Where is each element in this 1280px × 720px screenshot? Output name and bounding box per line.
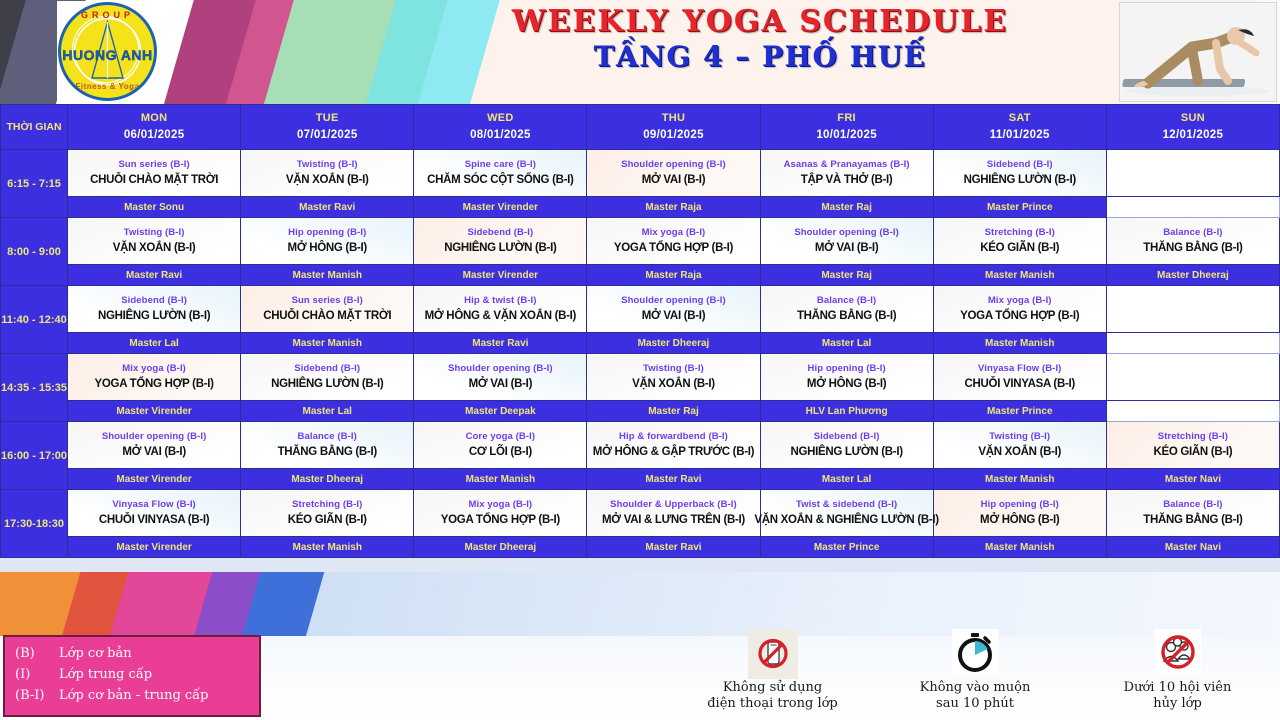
class-name-en: Shoulder opening (B-I) bbox=[621, 159, 726, 171]
class-cell-empty bbox=[1106, 354, 1279, 401]
coach-cell: HLV Lan Phương bbox=[760, 401, 933, 422]
coach-row: Master VirenderMaster LalMaster DeepakMa… bbox=[1, 401, 1280, 422]
class-cell-content: Twist & sidebend (B-I)VẶN XOẮN & NGHIÊNG… bbox=[761, 490, 933, 536]
header-row: THỜI GIAN MON 06/01/2025 TUE 07/01/2025 … bbox=[1, 105, 1280, 150]
coach-cell: Master Virender bbox=[414, 265, 587, 286]
coach-cell: Master Ravi bbox=[587, 469, 760, 490]
header-day-date: 11/01/2025 bbox=[934, 127, 1106, 144]
class-name-en: Twisting (B-I) bbox=[297, 159, 358, 171]
class-name-en: Shoulder opening (B-I) bbox=[621, 295, 726, 307]
header-day-sun: SUN 12/01/2025 bbox=[1106, 105, 1279, 150]
class-cell-content bbox=[1107, 150, 1279, 196]
class-name-vi: MỞ VAI (B-I) bbox=[642, 173, 706, 187]
class-cell[interactable]: Balance (B-I)THĂNG BẰNG (B-I) bbox=[1106, 218, 1279, 265]
yoga-pose-photo bbox=[1119, 2, 1277, 102]
legend-key: (B-I) bbox=[15, 685, 59, 706]
class-row: 14:35 - 15:35Mix yoga (B-I)YOGA TỔNG HỢP… bbox=[1, 354, 1280, 401]
class-name-en: Twisting (B-I) bbox=[124, 227, 185, 239]
coach-cell: Master Dheeraj bbox=[587, 333, 760, 354]
header-day-name: WED bbox=[487, 112, 514, 124]
rule-line1: Không vào muộn bbox=[883, 680, 1068, 696]
class-row: 16:00 - 17:00Shoulder opening (B-I)MỞ VA… bbox=[1, 422, 1280, 469]
class-cell[interactable]: Stretching (B-I)KÉO GIÃN (B-I) bbox=[1106, 422, 1279, 469]
class-cell-content: Hip opening (B-I)MỞ HÔNG (B-I) bbox=[761, 354, 933, 400]
coach-cell: Master Raja bbox=[587, 265, 760, 286]
class-name-en: Twisting (B-I) bbox=[643, 363, 704, 375]
class-name-vi: MỞ VAI (B-I) bbox=[815, 241, 879, 255]
footer-band-lightblue bbox=[306, 572, 1280, 636]
class-cell-content: Hip & forwardbend (B-I)MỞ HÔNG & GẬP TRƯ… bbox=[587, 422, 759, 468]
class-cell[interactable]: Stretching (B-I)KÉO GIÃN (B-I) bbox=[241, 490, 414, 537]
class-cell[interactable]: Shoulder opening (B-I)MỞ VAI (B-I) bbox=[760, 218, 933, 265]
class-name-en: Mix yoga (B-I) bbox=[469, 499, 533, 511]
coach-cell: Master Virender bbox=[68, 537, 241, 558]
header-day-date: 08/01/2025 bbox=[414, 127, 586, 144]
class-name-vi: MỞ HÔNG (B-I) bbox=[288, 241, 367, 255]
class-cell-content: Shoulder opening (B-I)MỞ VAI (B-I) bbox=[587, 150, 759, 196]
class-cell-empty bbox=[1106, 286, 1279, 333]
class-cell-content: Shoulder & Upperback (B-I)MỞ VAI & LƯNG … bbox=[587, 490, 759, 536]
class-cell[interactable]: Mix yoga (B-I)YOGA TỔNG HỢP (B-I) bbox=[68, 354, 241, 401]
legend-item: (B-I) Lớp cơ bản - trung cấp bbox=[15, 685, 259, 706]
class-name-vi: VẶN XOẮN (B-I) bbox=[978, 445, 1061, 459]
class-cell[interactable]: Shoulder opening (B-I)MỞ VAI (B-I) bbox=[587, 150, 760, 197]
coach-cell: Master Ravi bbox=[241, 197, 414, 218]
class-cell[interactable]: Twisting (B-I)VẶN XOẮN (B-I) bbox=[241, 150, 414, 197]
class-cell[interactable]: Vinyasa Flow (B-I)CHUỖI VINYASA (B-I) bbox=[68, 490, 241, 537]
class-cell-content: Vinyasa Flow (B-I)CHUỖI VINYASA (B-I) bbox=[934, 354, 1106, 400]
rule-no-late: Không vào muộn sau 10 phút bbox=[883, 630, 1068, 713]
header-day-tue: TUE 07/01/2025 bbox=[241, 105, 414, 150]
class-name-vi: VẶN XOẮN (B-I) bbox=[113, 241, 196, 255]
header-time-label: THỜI GIAN bbox=[1, 105, 68, 150]
coach-cell-empty bbox=[1106, 197, 1279, 218]
weekly-schedule-table: THỜI GIAN MON 06/01/2025 TUE 07/01/2025 … bbox=[0, 104, 1280, 558]
yoga-pose-illustration bbox=[1120, 3, 1274, 99]
class-name-vi: KÉO GIÃN (B-I) bbox=[1153, 445, 1232, 459]
coach-cell: Master Navi bbox=[1106, 537, 1279, 558]
class-cell-content: Sidebend (B-I)NGHIÊNG LƯỜN (B-I) bbox=[414, 218, 586, 264]
class-name-vi: VẶN XOẮN & NGHIÊNG LƯỜN (B-I) bbox=[754, 513, 938, 527]
class-name-en: Hip opening (B-I) bbox=[981, 499, 1059, 511]
coach-cell: Master Sonu bbox=[68, 197, 241, 218]
class-name-en: Balance (B-I) bbox=[817, 295, 876, 307]
class-name-en: Sidebend (B-I) bbox=[987, 159, 1053, 171]
class-cell-content: Hip opening (B-I)MỞ HÔNG (B-I) bbox=[241, 218, 413, 264]
coach-cell: Master Virender bbox=[414, 197, 587, 218]
class-name-en: Balance (B-I) bbox=[1163, 227, 1222, 239]
class-cell-content: Core yoga (B-I)CƠ LÕI (B-I) bbox=[414, 422, 586, 468]
class-name-en: Sun series (B-I) bbox=[292, 295, 363, 307]
class-name-vi: CƠ LÕI (B-I) bbox=[469, 445, 532, 459]
class-cell-content: Shoulder opening (B-I)MỞ VAI (B-I) bbox=[414, 354, 586, 400]
coach-cell: Master Prince bbox=[760, 537, 933, 558]
class-name-en: Sun series (B-I) bbox=[118, 159, 189, 171]
class-cell[interactable]: Twisting (B-I)VẶN XOẮN (B-I) bbox=[587, 354, 760, 401]
class-cell-content: Mix yoga (B-I)YOGA TỔNG HỢP (B-I) bbox=[414, 490, 586, 536]
class-name-en: Shoulder opening (B-I) bbox=[102, 431, 207, 443]
class-name-vi: NGHIÊNG LƯỜN (B-I) bbox=[98, 309, 210, 323]
class-cell[interactable]: Sidebend (B-I)NGHIÊNG LƯỜN (B-I) bbox=[933, 150, 1106, 197]
time-slot-cell: 8:00 - 9:00 bbox=[1, 218, 68, 286]
class-cell[interactable]: Stretching (B-I)KÉO GIÃN (B-I) bbox=[933, 218, 1106, 265]
class-name-en: Asanas & Pranayamas (B-I) bbox=[784, 159, 910, 171]
coach-cell: Master Raja bbox=[587, 197, 760, 218]
class-name-vi: VẶN XOẮN (B-I) bbox=[632, 377, 715, 391]
class-name-vi: THĂNG BẰNG (B-I) bbox=[1143, 513, 1242, 527]
table-head: THỜI GIAN MON 06/01/2025 TUE 07/01/2025 … bbox=[1, 105, 1280, 150]
class-cell[interactable]: Sun series (B-I)CHUỖI CHÀO MẶT TRỜI bbox=[68, 150, 241, 197]
coach-cell: Master Raj bbox=[760, 197, 933, 218]
coach-cell: Master Raj bbox=[587, 401, 760, 422]
rule-line1: Không sử dụng bbox=[680, 680, 865, 696]
header-day-name: SAT bbox=[1009, 112, 1031, 124]
header-day-wed: WED 08/01/2025 bbox=[414, 105, 587, 150]
coach-cell: Master Virender bbox=[68, 469, 241, 490]
class-name-en: Hip & twist (B-I) bbox=[464, 295, 536, 307]
class-name-vi: YOGA TỔNG HỢP (B-I) bbox=[441, 513, 560, 527]
coach-cell: Master Dheeraj bbox=[241, 469, 414, 490]
coach-cell: Master Lal bbox=[760, 469, 933, 490]
class-name-en: Sidebend (B-I) bbox=[294, 363, 360, 375]
class-name-en: Twist & sidebend (B-I) bbox=[796, 499, 897, 511]
header-day-mon: MON 06/01/2025 bbox=[68, 105, 241, 150]
coach-row: Master VirenderMaster ManishMaster Dheer… bbox=[1, 537, 1280, 558]
legend-text: Lớp trung cấp bbox=[59, 664, 152, 685]
class-cell[interactable]: Twisting (B-I)VẶN XOẮN (B-I) bbox=[68, 218, 241, 265]
level-legend: (B) Lớp cơ bản (I) Lớp trung cấp (B-I) L… bbox=[3, 635, 261, 717]
rule-icon-wrap bbox=[680, 630, 865, 678]
coach-cell: Master Ravi bbox=[587, 537, 760, 558]
class-cell-content: Shoulder opening (B-I)MỞ VAI (B-I) bbox=[68, 422, 240, 468]
class-name-vi: CHUỖI VINYASA (B-I) bbox=[965, 377, 1075, 391]
class-cell-content: Mix yoga (B-I)YOGA TỔNG HỢP (B-I) bbox=[587, 218, 759, 264]
footer-area: (B) Lớp cơ bản (I) Lớp trung cấp (B-I) L… bbox=[0, 572, 1280, 720]
class-name-en: Vinyasa Flow (B-I) bbox=[978, 363, 1061, 375]
class-name-en: Hip opening (B-I) bbox=[808, 363, 886, 375]
class-cell[interactable]: Twist & sidebend (B-I)VẶN XOẮN & NGHIÊNG… bbox=[760, 490, 933, 537]
brand-logo: GROUP HUONG ANH Fitness & Yoga bbox=[57, 1, 158, 102]
class-name-vi: VẶN XOẮN (B-I) bbox=[286, 173, 369, 187]
class-cell[interactable]: Balance (B-I)THĂNG BẰNG (B-I) bbox=[760, 286, 933, 333]
coach-cell: Master Manish bbox=[933, 265, 1106, 286]
rule-caption: Không vào muộn sau 10 phút bbox=[883, 680, 1068, 713]
header-day-date: 10/01/2025 bbox=[761, 127, 933, 144]
class-name-vi: MỞ VAI & LƯNG TRÊN (B-I) bbox=[602, 513, 745, 527]
class-name-vi: MỞ HÔNG (B-I) bbox=[807, 377, 886, 391]
class-name-en: Sidebend (B-I) bbox=[814, 431, 880, 443]
coach-cell: Master Manish bbox=[414, 469, 587, 490]
class-cell-content: Vinyasa Flow (B-I)CHUỖI VINYASA (B-I) bbox=[68, 490, 240, 536]
class-cell-content: Balance (B-I)THĂNG BẰNG (B-I) bbox=[241, 422, 413, 468]
class-cell-content: Sidebend (B-I)NGHIÊNG LƯỜN (B-I) bbox=[761, 422, 933, 468]
class-row: 6:15 - 7:15Sun series (B-I)CHUỖI CHÀO MẶ… bbox=[1, 150, 1280, 197]
no-phone-icon bbox=[748, 629, 798, 679]
coach-cell: Master Dheeraj bbox=[1106, 265, 1279, 286]
class-name-vi: NGHIÊNG LƯỜN (B-I) bbox=[790, 445, 902, 459]
coach-cell: Master Ravi bbox=[68, 265, 241, 286]
class-name-en: Twisting (B-I) bbox=[989, 431, 1050, 443]
title-subtitle: TẦNG 4 – PHỐ HUẾ bbox=[430, 40, 1090, 74]
coach-cell: Master Lal bbox=[68, 333, 241, 354]
coach-cell: Master Raj bbox=[760, 265, 933, 286]
legend-key: (B) bbox=[15, 643, 59, 664]
class-name-vi: NGHIÊNG LƯỜN (B-I) bbox=[271, 377, 383, 391]
coach-cell: Master Manish bbox=[241, 537, 414, 558]
coach-cell: Master Virender bbox=[68, 401, 241, 422]
coach-cell: Master Manish bbox=[933, 333, 1106, 354]
header-day-thu: THU 09/01/2025 bbox=[587, 105, 760, 150]
legend-item: (B) Lớp cơ bản bbox=[15, 643, 259, 664]
class-row: 8:00 - 9:00Twisting (B-I)VẶN XOẮN (B-I)H… bbox=[1, 218, 1280, 265]
class-cell-content: Twisting (B-I)VẶN XOẮN (B-I) bbox=[241, 150, 413, 196]
page-title: WEEKLY YOGA SCHEDULE TẦNG 4 – PHỐ HUẾ bbox=[430, 4, 1090, 74]
class-name-vi: CHUỖI CHÀO MẶT TRỜI bbox=[90, 173, 218, 187]
class-name-vi: TẬP VÀ THỞ (B-I) bbox=[801, 173, 893, 187]
class-cell-content: Shoulder opening (B-I)MỞ VAI (B-I) bbox=[587, 286, 759, 332]
class-cell[interactable]: Asanas & Pranayamas (B-I)TẬP VÀ THỞ (B-I… bbox=[760, 150, 933, 197]
class-name-vi: KÉO GIÃN (B-I) bbox=[980, 241, 1059, 255]
coach-row: Master RaviMaster ManishMaster VirenderM… bbox=[1, 265, 1280, 286]
class-name-vi: NGHIÊNG LƯỜN (B-I) bbox=[444, 241, 556, 255]
coach-cell: Master Ravi bbox=[414, 333, 587, 354]
header-day-date: 07/01/2025 bbox=[241, 127, 413, 144]
class-name-en: Stretching (B-I) bbox=[1158, 431, 1228, 443]
class-name-en: Shoulder opening (B-I) bbox=[794, 227, 899, 239]
class-name-vi: MỞ HÔNG (B-I) bbox=[980, 513, 1059, 527]
class-name-vi: CHUỖI CHÀO MẶT TRỜI bbox=[263, 309, 391, 323]
class-cell-content: Stretching (B-I)KÉO GIÃN (B-I) bbox=[934, 218, 1106, 264]
class-cell[interactable]: Sidebend (B-I)NGHIÊNG LƯỜN (B-I) bbox=[414, 218, 587, 265]
header-day-name: TUE bbox=[316, 112, 339, 124]
stopwatch-icon bbox=[952, 629, 998, 680]
no-group-icon bbox=[1155, 629, 1201, 680]
class-name-en: Hip opening (B-I) bbox=[288, 227, 366, 239]
class-cell[interactable]: Balance (B-I)THĂNG BẰNG (B-I) bbox=[241, 422, 414, 469]
class-name-vi: NGHIÊNG LƯỜN (B-I) bbox=[964, 173, 1076, 187]
class-cell-content: Spine care (B-I)CHĂM SÓC CỘT SỐNG (B-I) bbox=[414, 150, 586, 196]
rule-min-members: Dưới 10 hội viên hủy lớp bbox=[1085, 630, 1270, 713]
coach-cell: Master Manish bbox=[933, 469, 1106, 490]
rule-line2: hủy lớp bbox=[1085, 696, 1270, 712]
class-cell[interactable]: Sidebend (B-I)NGHIÊNG LƯỜN (B-I) bbox=[68, 286, 241, 333]
coach-cell-empty bbox=[1106, 401, 1279, 422]
class-cell[interactable]: Hip opening (B-I)MỞ HÔNG (B-I) bbox=[241, 218, 414, 265]
class-name-vi: CHUỖI VINYASA (B-I) bbox=[99, 513, 209, 527]
header-day-name: MON bbox=[141, 112, 168, 124]
class-cell-content: Mix yoga (B-I)YOGA TỔNG HỢP (B-I) bbox=[68, 354, 240, 400]
rule-caption: Dưới 10 hội viên hủy lớp bbox=[1085, 680, 1270, 713]
class-name-en: Shoulder & Upperback (B-I) bbox=[610, 499, 737, 511]
coach-row: Master VirenderMaster DheerajMaster Mani… bbox=[1, 469, 1280, 490]
class-cell-content: Hip & twist (B-I)MỞ HÔNG & VẶN XOẮN (B-I… bbox=[414, 286, 586, 332]
class-cell-content: Sidebend (B-I)NGHIÊNG LƯỜN (B-I) bbox=[68, 286, 240, 332]
class-cell-content: Stretching (B-I)KÉO GIÃN (B-I) bbox=[241, 490, 413, 536]
class-cell[interactable]: Sidebend (B-I)NGHIÊNG LƯỜN (B-I) bbox=[241, 354, 414, 401]
class-cell-content: Twisting (B-I)VẶN XOẮN (B-I) bbox=[68, 218, 240, 264]
rule-icon-wrap bbox=[1085, 630, 1270, 678]
class-cell[interactable]: Sidebend (B-I)NGHIÊNG LƯỜN (B-I) bbox=[760, 422, 933, 469]
coach-cell: Master Deepak bbox=[414, 401, 587, 422]
coach-cell: Master Lal bbox=[241, 401, 414, 422]
class-cell[interactable]: Core yoga (B-I)CƠ LÕI (B-I) bbox=[414, 422, 587, 469]
class-row: 11:40 - 12:40Sidebend (B-I)NGHIÊNG LƯỜN … bbox=[1, 286, 1280, 333]
class-cell[interactable]: Hip opening (B-I)MỞ HÔNG (B-I) bbox=[933, 490, 1106, 537]
header-day-name: FRI bbox=[837, 112, 856, 124]
class-name-en: Vinyasa Flow (B-I) bbox=[112, 499, 195, 511]
class-name-vi: CHĂM SÓC CỘT SỐNG (B-I) bbox=[427, 173, 573, 187]
coach-row: Master LalMaster ManishMaster RaviMaster… bbox=[1, 333, 1280, 354]
class-cell-content: Shoulder opening (B-I)MỞ VAI (B-I) bbox=[761, 218, 933, 264]
class-row: 17:30-18:30Vinyasa Flow (B-I)CHUỖI VINYA… bbox=[1, 490, 1280, 537]
class-name-vi: MỞ HÔNG & VẶN XOẮN (B-I) bbox=[425, 309, 576, 323]
time-slot-cell: 6:15 - 7:15 bbox=[1, 150, 68, 218]
rule-icon-wrap bbox=[883, 630, 1068, 678]
class-name-en: Shoulder opening (B-I) bbox=[448, 363, 553, 375]
class-cell-content: Balance (B-I)THĂNG BẰNG (B-I) bbox=[1107, 218, 1279, 264]
class-name-en: Mix yoga (B-I) bbox=[642, 227, 706, 239]
legend-text: Lớp cơ bản - trung cấp bbox=[59, 685, 208, 706]
class-cell-content: Twisting (B-I)VẶN XOẮN (B-I) bbox=[934, 422, 1106, 468]
class-name-en: Sidebend (B-I) bbox=[121, 295, 187, 307]
time-slot-cell: 11:40 - 12:40 bbox=[1, 286, 68, 354]
class-cell-content: Sun series (B-I)CHUỖI CHÀO MẶT TRỜI bbox=[68, 150, 240, 196]
logo-brand-text: HUONG ANH bbox=[61, 47, 154, 63]
coach-cell: Master Manish bbox=[241, 333, 414, 354]
legend-key: (I) bbox=[15, 664, 59, 685]
header-day-date: 12/01/2025 bbox=[1107, 127, 1279, 144]
class-cell-content: Balance (B-I)THĂNG BẰNG (B-I) bbox=[761, 286, 933, 332]
table-body: 6:15 - 7:15Sun series (B-I)CHUỖI CHÀO MẶ… bbox=[1, 150, 1280, 558]
class-name-vi: YOGA TỔNG HỢP (B-I) bbox=[614, 241, 733, 255]
coach-cell: Master Dheeraj bbox=[414, 537, 587, 558]
class-name-vi: KÉO GIÃN (B-I) bbox=[288, 513, 367, 527]
coach-row: Master SonuMaster RaviMaster VirenderMas… bbox=[1, 197, 1280, 218]
schedule-sheet: THỜI GIAN MON 06/01/2025 TUE 07/01/2025 … bbox=[0, 104, 1280, 572]
class-name-en: Mix yoga (B-I) bbox=[988, 295, 1052, 307]
class-cell[interactable]: Mix yoga (B-I)YOGA TỔNG HỢP (B-I) bbox=[587, 218, 760, 265]
coach-cell: Master Lal bbox=[760, 333, 933, 354]
class-name-en: Stretching (B-I) bbox=[985, 227, 1055, 239]
header-day-name: SUN bbox=[1181, 112, 1205, 124]
class-name-vi: THĂNG BẰNG (B-I) bbox=[797, 309, 896, 323]
class-name-en: Mix yoga (B-I) bbox=[122, 363, 186, 375]
class-name-vi: THĂNG BẰNG (B-I) bbox=[1143, 241, 1242, 255]
rule-no-phone: Không sử dụng điện thoại trong lớp bbox=[680, 630, 865, 713]
class-cell-content: Sidebend (B-I)NGHIÊNG LƯỜN (B-I) bbox=[241, 354, 413, 400]
rule-line2: điện thoại trong lớp bbox=[680, 696, 865, 712]
class-name-en: Core yoga (B-I) bbox=[466, 431, 536, 443]
top-banner: GROUP HUONG ANH Fitness & Yoga WEEKLY YO… bbox=[0, 0, 1280, 104]
rule-line2: sau 10 phút bbox=[883, 696, 1068, 712]
class-name-vi: MỞ VAI (B-I) bbox=[122, 445, 186, 459]
rule-line1: Dưới 10 hội viên bbox=[1085, 680, 1270, 696]
header-day-date: 09/01/2025 bbox=[587, 127, 759, 144]
class-name-vi: MỞ HÔNG & GẬP TRƯỚC (B-I) bbox=[593, 445, 754, 459]
class-cell[interactable]: Hip & forwardbend (B-I)MỞ HÔNG & GẬP TRƯ… bbox=[587, 422, 760, 469]
coach-cell: Master Prince bbox=[933, 197, 1106, 218]
coach-cell: Master Manish bbox=[933, 537, 1106, 558]
class-name-en: Hip & forwardbend (B-I) bbox=[619, 431, 728, 443]
class-cell[interactable]: Balance (B-I)THĂNG BẰNG (B-I) bbox=[1106, 490, 1279, 537]
class-name-en: Spine care (B-I) bbox=[465, 159, 536, 171]
header-day-sat: SAT 11/01/2025 bbox=[933, 105, 1106, 150]
class-name-en: Stretching (B-I) bbox=[292, 499, 362, 511]
logo-tagline-text: Fitness & Yoga bbox=[61, 82, 154, 91]
class-name-en: Balance (B-I) bbox=[1163, 499, 1222, 511]
class-cell[interactable]: Sun series (B-I)CHUỖI CHÀO MẶT TRỜI bbox=[241, 286, 414, 333]
class-cell[interactable]: Mix yoga (B-I)YOGA TỔNG HỢP (B-I) bbox=[933, 286, 1106, 333]
logo-group-text: GROUP bbox=[61, 10, 154, 20]
class-cell[interactable]: Shoulder opening (B-I)MỞ VAI (B-I) bbox=[587, 286, 760, 333]
class-cell[interactable]: Vinyasa Flow (B-I)CHUỖI VINYASA (B-I) bbox=[933, 354, 1106, 401]
class-rules: Không sử dụng điện thoại trong lớp Không bbox=[680, 630, 1270, 720]
class-cell-content: Balance (B-I)THĂNG BẰNG (B-I) bbox=[1107, 490, 1279, 536]
logo-circle: GROUP HUONG ANH Fitness & Yoga bbox=[58, 2, 157, 101]
class-cell[interactable]: Shoulder opening (B-I)MỞ VAI (B-I) bbox=[68, 422, 241, 469]
class-cell[interactable]: Shoulder opening (B-I)MỞ VAI (B-I) bbox=[414, 354, 587, 401]
time-slot-cell: 17:30-18:30 bbox=[1, 490, 68, 558]
class-cell-content bbox=[1107, 286, 1279, 332]
class-cell-content: Twisting (B-I)VẶN XOẮN (B-I) bbox=[587, 354, 759, 400]
class-cell-content: Asanas & Pranayamas (B-I)TẬP VÀ THỞ (B-I… bbox=[761, 150, 933, 196]
class-name-en: Sidebend (B-I) bbox=[467, 227, 533, 239]
class-name-vi: MỞ VAI (B-I) bbox=[642, 309, 706, 323]
class-cell-content: Stretching (B-I)KÉO GIÃN (B-I) bbox=[1107, 422, 1279, 468]
coach-cell: Master Navi bbox=[1106, 469, 1279, 490]
class-name-vi: MỞ VAI (B-I) bbox=[469, 377, 533, 391]
rule-caption: Không sử dụng điện thoại trong lớp bbox=[680, 680, 865, 713]
class-name-vi: YOGA TỔNG HỢP (B-I) bbox=[960, 309, 1079, 323]
header-day-fri: FRI 10/01/2025 bbox=[760, 105, 933, 150]
class-cell-empty bbox=[1106, 150, 1279, 197]
time-slot-cell: 14:35 - 15:35 bbox=[1, 354, 68, 422]
class-cell[interactable]: Spine care (B-I)CHĂM SÓC CỘT SỐNG (B-I) bbox=[414, 150, 587, 197]
class-cell-content: Hip opening (B-I)MỞ HÔNG (B-I) bbox=[934, 490, 1106, 536]
class-cell[interactable]: Hip & twist (B-I)MỞ HÔNG & VẶN XOẮN (B-I… bbox=[414, 286, 587, 333]
coach-cell-empty bbox=[1106, 333, 1279, 354]
time-slot-cell: 16:00 - 17:00 bbox=[1, 422, 68, 490]
class-cell[interactable]: Hip opening (B-I)MỞ HÔNG (B-I) bbox=[760, 354, 933, 401]
legend-text: Lớp cơ bản bbox=[59, 643, 132, 664]
title-main: WEEKLY YOGA SCHEDULE bbox=[430, 4, 1090, 39]
coach-cell: Master Prince bbox=[933, 401, 1106, 422]
header-day-date: 06/01/2025 bbox=[68, 127, 240, 144]
class-name-vi: YOGA TỔNG HỢP (B-I) bbox=[95, 377, 214, 391]
class-name-en: Balance (B-I) bbox=[298, 431, 357, 443]
class-cell[interactable]: Mix yoga (B-I)YOGA TỔNG HỢP (B-I) bbox=[414, 490, 587, 537]
class-cell[interactable]: Shoulder & Upperback (B-I)MỞ VAI & LƯNG … bbox=[587, 490, 760, 537]
coach-cell: Master Manish bbox=[241, 265, 414, 286]
class-cell-content bbox=[1107, 354, 1279, 400]
class-cell-content: Sun series (B-I)CHUỖI CHÀO MẶT TRỜI bbox=[241, 286, 413, 332]
class-cell-content: Sidebend (B-I)NGHIÊNG LƯỜN (B-I) bbox=[934, 150, 1106, 196]
class-cell[interactable]: Twisting (B-I)VẶN XOẮN (B-I) bbox=[933, 422, 1106, 469]
class-cell-content: Mix yoga (B-I)YOGA TỔNG HỢP (B-I) bbox=[934, 286, 1106, 332]
class-name-vi: THĂNG BẰNG (B-I) bbox=[278, 445, 377, 459]
legend-item: (I) Lớp trung cấp bbox=[15, 664, 259, 685]
header-day-name: THU bbox=[662, 112, 686, 124]
